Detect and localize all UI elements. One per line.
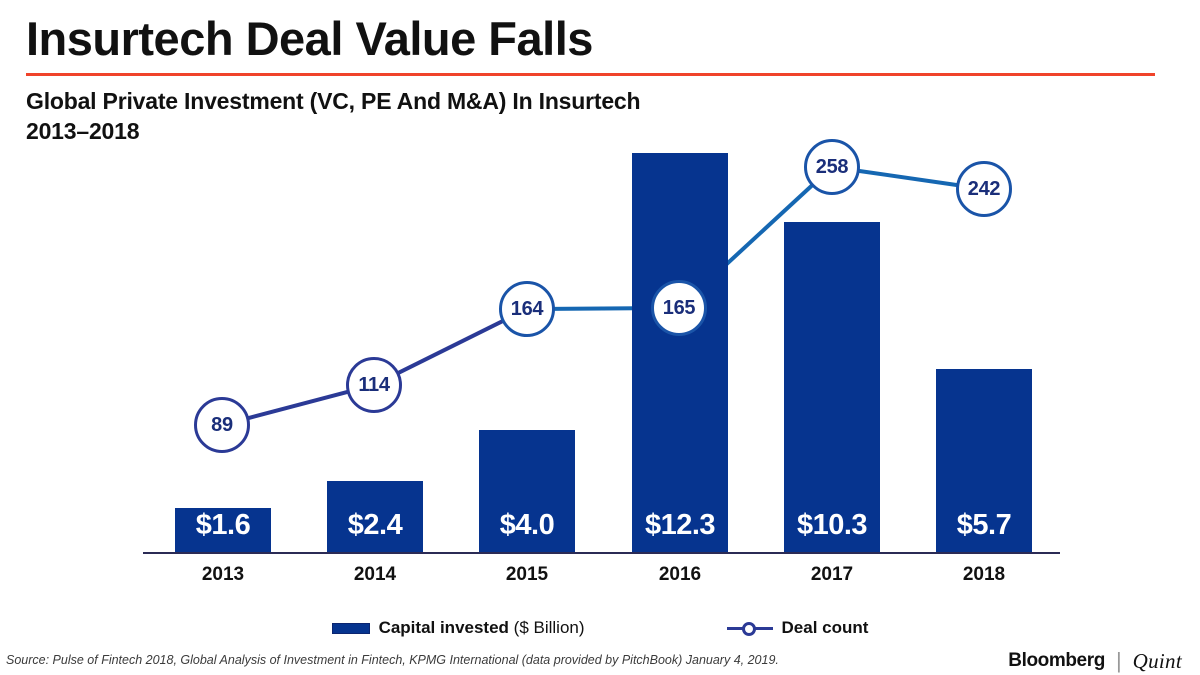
legend-label-bold: Capital invested: [379, 618, 509, 637]
line-segment-2017-2018: [858, 171, 959, 186]
bar-value-label-2016: $12.3: [618, 509, 742, 542]
deal-count-marker-2013: 89: [194, 397, 250, 453]
legend-line-dot: [742, 622, 756, 636]
chart-plot-area: $1.6$2.4$4.0$12.3$10.3$5.7 2013201420152…: [0, 0, 1200, 675]
legend-bar-swatch-icon: [332, 623, 370, 634]
brand-quint-text: Quint: [1133, 649, 1182, 674]
legend-item-deal-count[interactable]: Deal count: [727, 618, 869, 638]
x-tick-2016: 2016: [612, 564, 748, 586]
legend-line-marker-icon: [727, 620, 773, 636]
deal-count-marker-2015: 164: [499, 281, 555, 337]
x-tick-2013: 2013: [155, 564, 291, 586]
deal-count-marker-2017: 258: [804, 139, 860, 195]
deal-count-marker-2018: 242: [956, 161, 1012, 217]
legend-item-capital-invested[interactable]: Capital invested ($ Billion): [332, 618, 585, 638]
deal-count-marker-2014: 114: [346, 357, 402, 413]
source-note: Source: Pulse of Fintech 2018, Global An…: [6, 653, 779, 667]
bar-2016: [632, 153, 728, 552]
x-axis-line: [143, 552, 1060, 554]
brand-bloomberg-text: Bloomberg: [1008, 650, 1105, 672]
bar-value-label-2013: $1.6: [161, 509, 285, 542]
bar-2017: [784, 222, 880, 552]
legend-label-unit: ($ Billion): [514, 618, 585, 637]
deal-count-marker-2016: 165: [651, 280, 707, 336]
bar-value-label-2015: $4.0: [465, 509, 589, 542]
legend-label-capital-invested: Capital invested ($ Billion): [379, 618, 585, 638]
x-tick-2017: 2017: [764, 564, 900, 586]
brand-logo: Bloomberg | Quint: [1008, 648, 1182, 674]
x-tick-2018: 2018: [916, 564, 1052, 586]
line-segment-2014-2015: [397, 321, 503, 374]
x-tick-2014: 2014: [307, 564, 443, 586]
legend-label-deal-count: Deal count: [782, 618, 869, 638]
chart-legend: Capital invested ($ Billion) Deal count: [0, 618, 1200, 638]
brand-separator: |: [1116, 648, 1122, 674]
bar-value-label-2018: $5.7: [922, 509, 1046, 542]
line-segment-2013-2014: [247, 392, 349, 419]
bar-value-label-2017: $10.3: [770, 509, 894, 542]
bar-value-label-2014: $2.4: [313, 509, 437, 542]
x-tick-2015: 2015: [459, 564, 595, 586]
